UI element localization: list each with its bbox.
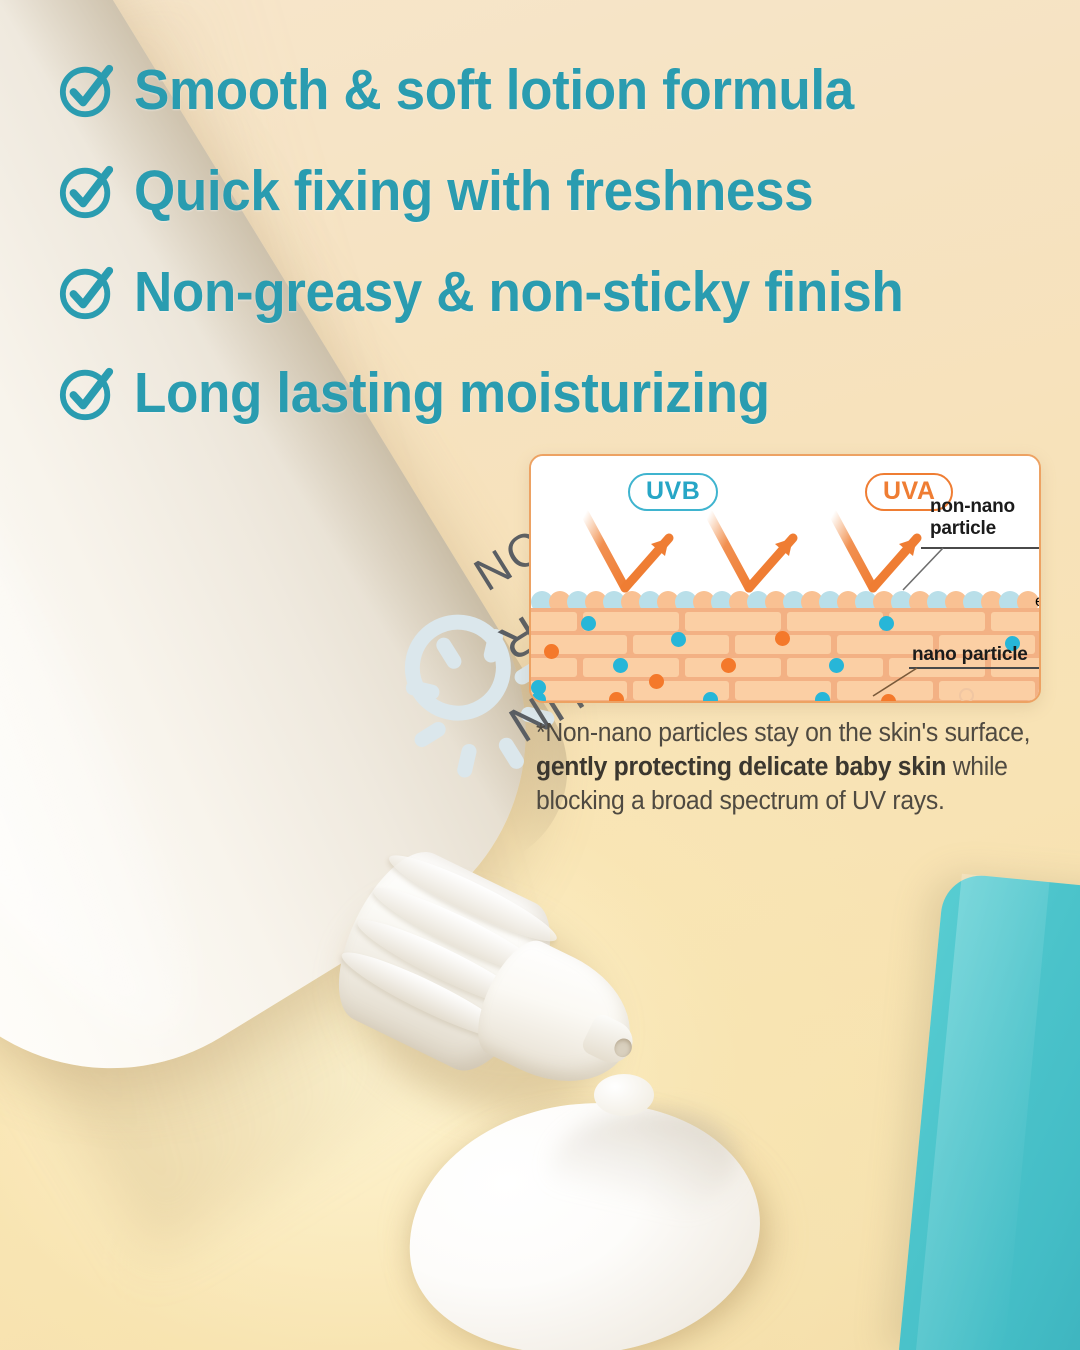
nano-particle	[775, 631, 790, 646]
caption-line-1: *Non-nano particles stay on the skin's s…	[536, 719, 1030, 747]
non-nano-callout-line-1: non-nano	[930, 496, 1015, 518]
nano-callout-rule	[909, 667, 1039, 669]
nano-particle	[649, 674, 664, 689]
uv-ray-reflection-arrow-icon	[579, 508, 683, 598]
uv-protection-diagram: UVB UVA	[529, 454, 1041, 703]
nano-particle	[613, 658, 628, 673]
nano-particle	[544, 644, 559, 659]
nano-particle	[879, 616, 894, 631]
benefit-item: Non-greasy & non-sticky finish	[58, 248, 1058, 336]
nano-particle-callout: nano particle	[912, 644, 1028, 666]
benefit-label: Non-greasy & non-sticky finish	[134, 264, 903, 321]
sun-ray	[412, 719, 449, 750]
diagram-caption: *Non-nano particles stay on the skin's s…	[536, 716, 1040, 818]
nano-particle	[815, 692, 830, 703]
benefit-label: Long lasting moisturizing	[134, 365, 770, 422]
product-marketing-image: SUN WATER LOTION Smooth & soft lotion fo…	[0, 0, 1080, 1350]
nano-leader-line	[867, 666, 919, 700]
benefit-item: Quick fixing with freshness	[58, 147, 1058, 235]
lotion-droplet	[594, 1074, 654, 1116]
non-nano-leader-line	[899, 546, 945, 594]
nano-particle	[581, 616, 596, 631]
non-nano-callout-line-2: particle	[930, 518, 1015, 540]
nano-particle	[703, 692, 718, 703]
check-circle-icon	[58, 162, 116, 220]
nano-particle	[671, 632, 686, 647]
check-circle-icon	[58, 61, 116, 119]
check-circle-icon	[58, 364, 116, 422]
benefit-item: Smooth & soft lotion formula	[58, 46, 1058, 134]
benefit-label: Smooth & soft lotion formula	[134, 62, 854, 119]
caption-bold-phrase: gently protecting delicate baby skin	[536, 753, 946, 781]
nano-particle	[721, 658, 736, 673]
sun-ray	[456, 743, 478, 780]
uv-ray-reflection-arrow-icon	[703, 508, 807, 598]
nano-particle-outline	[959, 688, 974, 703]
benefit-item: Long lasting moisturizing	[58, 349, 1058, 437]
benefit-label: Quick fixing with freshness	[134, 163, 813, 220]
caption-line-2-tail: while	[946, 753, 1008, 781]
nano-particle	[829, 658, 844, 673]
nano-particle	[609, 692, 624, 703]
non-nano-particle-callout: non-nano particle	[930, 496, 1015, 540]
caption-line-3: blocking a broad spectrum of UV rays.	[536, 787, 945, 815]
benefits-list: Smooth & soft lotion formula Quick fixin…	[58, 46, 1058, 450]
check-circle-icon	[58, 263, 116, 321]
uvb-badge: UVB	[628, 473, 718, 511]
